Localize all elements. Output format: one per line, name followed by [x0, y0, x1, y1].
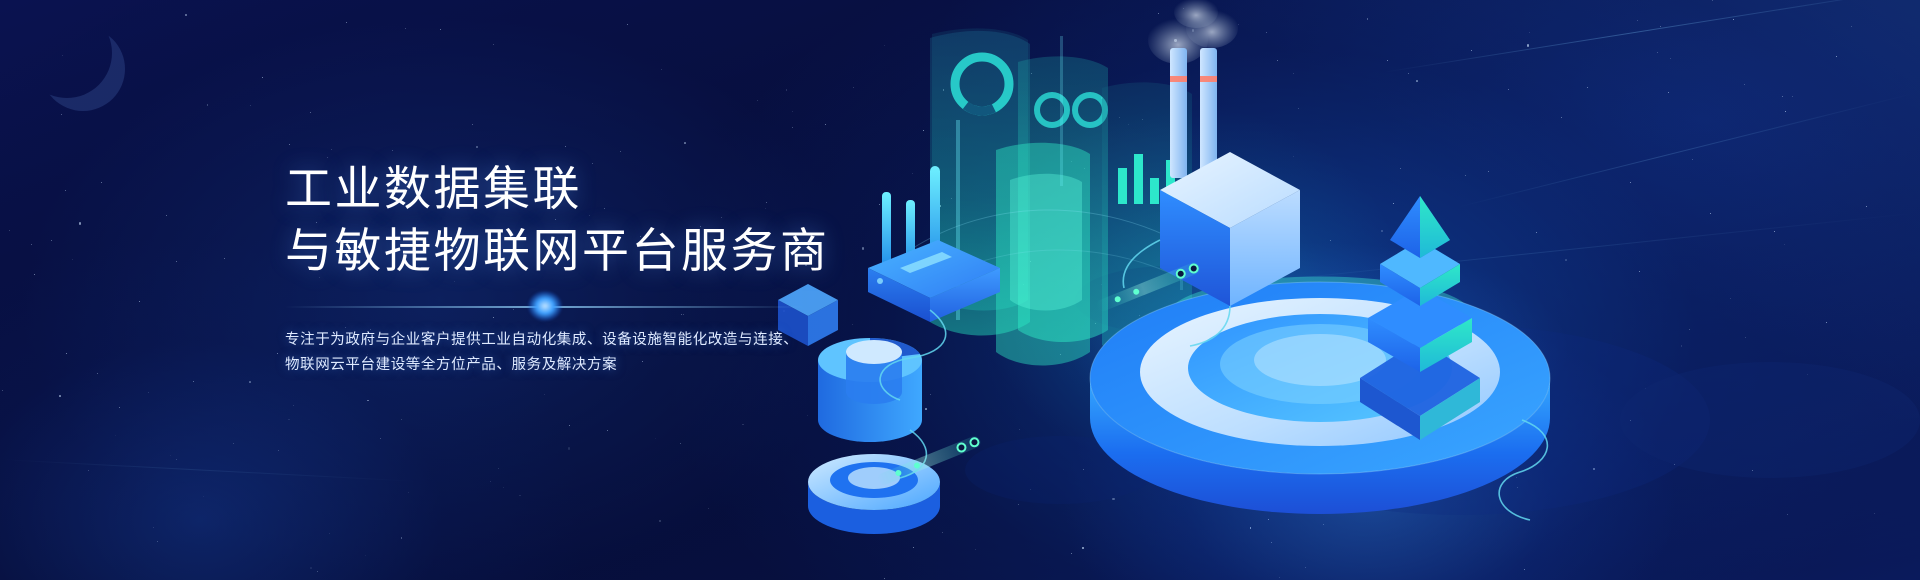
- star: [476, 146, 478, 148]
- star: [659, 520, 661, 522]
- star: [627, 24, 628, 25]
- star: [262, 77, 263, 78]
- star: [607, 430, 608, 431]
- headline-line-2: 与敏捷物联网平台服务商: [285, 220, 925, 282]
- star: [742, 424, 744, 426]
- star: [757, 100, 758, 101]
- star: [331, 149, 332, 150]
- star: [185, 14, 187, 16]
- subtitle-line-2: 物联网云平台建设等全方位产品、服务及解决方案: [285, 353, 925, 378]
- star: [405, 28, 406, 29]
- crescent-moon-icon: [22, 8, 112, 98]
- hero-copy: 工业数据集联 与敏捷物联网平台服务商 专注于为政府与企业客户提供工业自动化集成、…: [285, 158, 925, 378]
- smokestack-factory-cube: [1148, 0, 1300, 306]
- headline-line-1: 工业数据集联: [285, 162, 582, 215]
- star: [493, 44, 494, 45]
- star: [79, 222, 81, 224]
- star: [472, 124, 473, 125]
- star: [310, 112, 311, 113]
- star: [708, 508, 709, 509]
- hero-banner: 工业数据集联 与敏捷物联网平台服务商 专注于为政府与企业客户提供工业自动化集成、…: [0, 0, 1920, 580]
- divider-glow-dot: [528, 291, 562, 321]
- hero-illustration: [760, 0, 1920, 580]
- star: [661, 69, 662, 70]
- pyramid-stack: [1360, 196, 1480, 440]
- star: [289, 144, 290, 145]
- star: [166, 215, 167, 216]
- star: [61, 114, 62, 115]
- subtitle-line-1: 专注于为政府与企业客户提供工业自动化集成、设备设施智能化改造与连接、: [285, 328, 925, 353]
- star: [207, 104, 209, 106]
- star: [346, 22, 347, 23]
- star: [392, 150, 393, 151]
- star: [9, 230, 10, 231]
- star: [684, 142, 686, 144]
- star: [101, 182, 102, 183]
- smoke-plume: [1148, 0, 1238, 64]
- title-divider: [285, 300, 805, 314]
- page-title: 工业数据集联 与敏捷物联网平台服务商: [285, 158, 925, 282]
- star: [250, 105, 251, 106]
- star: [620, 151, 621, 152]
- star: [565, 146, 566, 147]
- star: [655, 438, 656, 439]
- star: [680, 443, 681, 444]
- star: [65, 190, 66, 191]
- star: [440, 29, 441, 30]
